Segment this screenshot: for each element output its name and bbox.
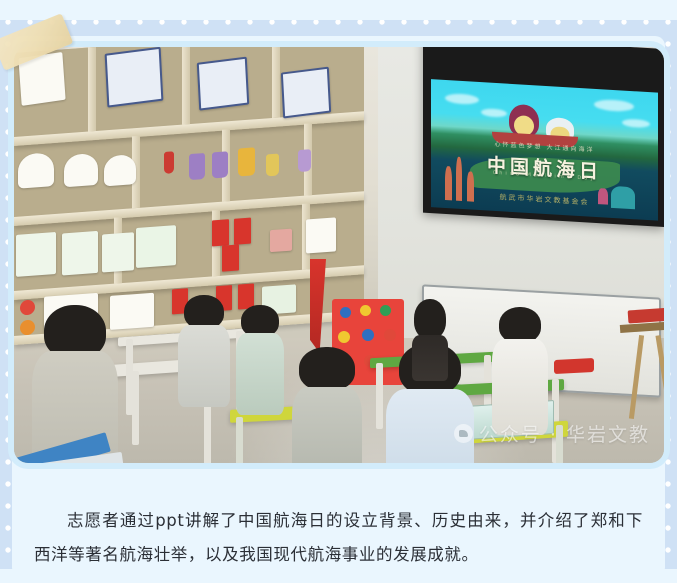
child-white-shirt <box>492 307 548 433</box>
classroom-photo-card: 心怀蓝色梦想 大江通向海洋 中国航海日 China Maritime Day 航… <box>14 47 664 463</box>
article-page: 心怀蓝色梦想 大江通向海洋 中国航海日 China Maritime Day 航… <box>0 0 677 583</box>
caption-panel: 志愿者通过ppt讲解了中国航海日的设立背景、历史由来，并介绍了郑和下西洋等著名航… <box>12 490 665 575</box>
projector-screen: 心怀蓝色梦想 大江通向海洋 中国航海日 China Maritime Day 航… <box>423 47 664 227</box>
screen-footer-text: 航武市华岩文教基金会 <box>500 192 590 207</box>
red-cloth-on-desk <box>554 358 594 374</box>
child-middle-left <box>178 295 230 405</box>
frame-top-margin <box>0 0 677 20</box>
red-case-on-stand <box>628 307 664 323</box>
watermark: 公众号 · 华岩文教 <box>454 420 650 447</box>
wechat-official-account-logo-icon <box>454 424 473 443</box>
caption-text: 志愿者通过ppt讲解了中国航海日的设立背景、历史由来，并介绍了郑和下西洋等著名航… <box>34 504 643 572</box>
child-foreground-center <box>292 347 362 463</box>
watermark-text: 公众号 · 华岩文教 <box>479 420 650 447</box>
child-back-girl <box>412 299 448 377</box>
child-middle-right <box>236 305 284 413</box>
classroom-photo: 心怀蓝色梦想 大江通向海洋 中国航海日 China Maritime Day 航… <box>14 47 664 463</box>
projector-screen-content: 心怀蓝色梦想 大江通向海洋 中国航海日 China Maritime Day 航… <box>431 79 658 220</box>
